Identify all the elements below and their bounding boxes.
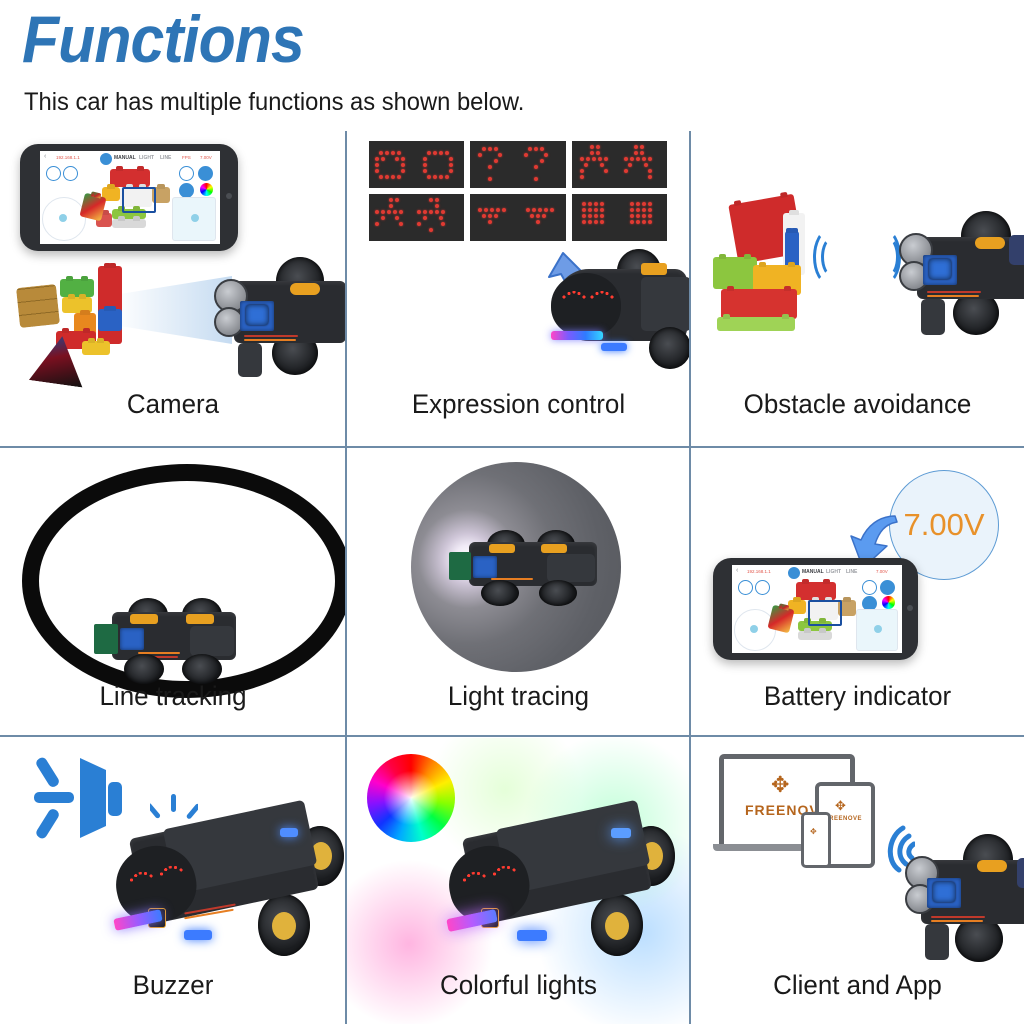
functions-grid: ‹ 192.168.1.1 MANUAL LIGHT LINE FPS 7.00… [0,131,1024,1024]
function-cell-client-and-app[interactable]: ✥ FREENOVE ✥ FREENOVE ✥ [691,738,1024,1024]
app-tab-line[interactable]: LINE [846,569,857,575]
function-cell-camera[interactable]: ‹ 192.168.1.1 MANUAL LIGHT LINE FPS 7.00… [0,131,346,447]
car-wire-orange [931,920,983,922]
led-matrix-question-marks [470,141,565,188]
color-wheel-icon [367,754,455,842]
page-title: Functions [22,6,304,72]
car-battery-holder [547,554,595,582]
app-tab-line[interactable]: LINE [160,155,171,161]
smartphone-mockup-battery: ‹ 192.168.1.1 MANUAL LIGHT LINE 7.00V [713,558,918,660]
car-wire-red [927,291,981,293]
cell-caption-camera: Camera [7,389,339,420]
joystick-left-knob[interactable] [750,625,758,633]
speaker-icon[interactable] [880,580,895,595]
robot-car [214,257,346,377]
camera-icon[interactable] [862,580,877,595]
led-face-panel [551,273,621,337]
robot-car-obstacle [899,211,1024,337]
car-motor-amber [641,263,667,275]
car-tire-front-left [481,580,519,606]
function-cell-buzzer[interactable]: Buzzer [0,738,346,1024]
car-tire-front-left [124,654,164,684]
screen-lego-grey [798,631,832,640]
app-status-left: 192.168.1.1 [56,155,80,160]
functions-page: Functions This car has multiple function… [0,0,1024,1024]
app-tab-manual[interactable]: MANUAL [802,569,824,575]
freenove-logo-mark: ✥ [771,772,789,798]
app-fps-label: FPS [182,155,191,160]
video-icon[interactable] [755,580,770,595]
cell-caption-expression-control: Expression control [354,389,683,420]
camera-lens [246,305,268,325]
led-matrix-wide-eyes [572,194,667,241]
led-matrix-angry-eyes [369,194,464,241]
cell-caption-battery-indicator: Battery indicator [698,681,1018,712]
rgb-led-strip [551,331,603,340]
rubiks-cube [16,284,60,328]
speaker-icon[interactable] [198,166,213,181]
grid-divider-vertical-1 [345,131,347,1024]
robot-car-colorful-lights [443,790,681,960]
camera-icon[interactable] [179,166,194,181]
page-subtitle: This car has multiple functions as shown… [24,88,524,117]
car-motor-amber [977,860,1007,872]
robot-car-expression [545,243,690,383]
car-motor-amber-left [130,614,158,624]
camera-target-selection-box [808,600,842,626]
app-voltage-readout: 7.00V [876,569,888,574]
line-tracking-module [94,624,118,654]
led-eye-left [561,291,587,300]
lego-red-tall [98,266,122,344]
target-icon[interactable] [738,580,753,595]
camera-lens [929,259,951,279]
target-icon[interactable] [46,166,61,181]
car-rear-plate [641,277,690,331]
video-icon[interactable] [63,166,78,181]
smartphone-device: ✥ [801,812,831,868]
chevron-left-icon[interactable]: ‹ [44,153,46,160]
led-matrix-eyes-open [369,141,464,188]
app-tab-manual[interactable]: MANUAL [114,155,136,161]
app-tab-light[interactable]: LIGHT [139,155,154,161]
car-motor-amber [975,237,1005,249]
screen-lego-grey [112,219,146,228]
rgb-wheel-icon[interactable] [882,596,895,609]
camera-lens [933,882,955,902]
robot-car-line-tracking [94,598,250,684]
joystick-left-knob[interactable] [59,214,67,222]
car-motor-amber-right [541,544,567,553]
phone-home-button[interactable] [226,193,232,199]
led-matrix-cross-eyes [572,141,667,188]
led-eye-right [589,291,615,300]
rgb-wheel-icon[interactable] [200,183,213,196]
led-matrix-squint-eyes [470,194,565,241]
led-matrix-panel-group [369,141,667,241]
screen-pyramid [767,605,794,634]
rgb-led-side [601,343,627,351]
freenove-logo-mark-tablet: ✥ [835,798,846,814]
cell-caption-colorful-lights: Colorful lights [354,970,683,1001]
lego-blue [98,309,122,331]
lego-green [60,279,94,297]
link-icon[interactable] [788,567,800,579]
joystick-right-knob[interactable] [874,625,882,633]
camera-target-selection-box [122,187,156,213]
grid-divider-horizontal-2 [0,735,1024,737]
lego-green [713,257,757,289]
joystick-right-knob[interactable] [191,214,199,222]
car-tire-front-right [182,654,222,684]
car-tire-front-right [649,327,690,369]
function-cell-battery-indicator[interactable]: 7.00V ‹ 192.168.1.1 MANUAL LIGHT LINE 7.… [691,448,1024,737]
car-wire-orange [244,339,296,341]
cell-caption-obstacle-avoidance: Obstacle avoidance [698,389,1018,420]
rgb-led-strip-rear [280,828,298,837]
function-cell-obstacle-avoidance[interactable]: Obstacle avoidance [691,131,1024,447]
function-cell-line-tracking[interactable]: Line tracking [0,448,346,737]
cell-caption-client-and-app: Client and App [698,970,1018,1001]
car-wire-orange [927,295,979,297]
rgb-led-strip-rear [611,828,631,838]
car-front-plate [238,343,262,377]
car-wheel-hub-front [272,912,296,940]
grid-divider-vertical-2 [689,131,691,1024]
grid-divider-horizontal-1 [0,446,1024,448]
camera-servo [473,556,497,578]
phone-screen: ‹ 192.168.1.1 MANUAL LIGHT LINE 7.00V [732,565,902,653]
app-voltage-label: 7.00V [200,155,212,160]
sonar-wave-icon-right-2 [869,229,901,285]
chevron-left-icon[interactable]: ‹ [736,567,738,574]
cell-caption-buzzer: Buzzer [7,970,339,1001]
smartphone-mockup: ‹ 192.168.1.1 MANUAL LIGHT LINE FPS 7.00… [20,144,238,251]
rgb-led-strip-side [184,930,212,940]
car-side-module [1017,858,1024,888]
function-cell-light-tracing[interactable]: Light tracing [347,448,690,737]
car-wire-red [244,335,298,337]
app-status-left: 192.168.1.1 [747,569,771,574]
robot-car-light-tracing [445,530,605,606]
car-battery-holder [190,626,234,656]
lego-yellow2 [82,341,110,355]
lego-green-base [717,317,795,331]
page-header: Functions This car has multiple function… [0,0,1024,130]
phone-home-button[interactable] [907,605,913,611]
function-cell-colorful-lights[interactable]: Colorful lights [347,738,690,1024]
smiley-icon[interactable] [179,183,194,198]
rgb-led-strip-side [517,930,547,941]
car-motor-amber-right [186,614,214,624]
car-wheel-hub-front [605,912,629,940]
car-blue-module [1009,235,1024,265]
car-front-plate [921,299,945,335]
cell-caption-light-tracing: Light tracing [354,681,683,712]
link-icon[interactable] [100,153,112,165]
camera-servo [120,628,144,650]
freenove-logo-mark-phone: ✥ [810,827,817,836]
car-wire-red [931,916,985,918]
car-motor-amber [290,283,320,295]
cell-caption-line-tracking: Line tracking [7,681,339,712]
sonar-wave-icon-left-2 [813,229,845,285]
car-motor-amber-left [489,544,515,553]
phone-screen: ‹ 192.168.1.1 MANUAL LIGHT LINE FPS 7.00… [40,151,220,244]
robot-car-client-app [905,834,1024,962]
voltage-value: 7.00V [903,507,984,543]
photoresistor-module [449,552,471,580]
robot-car-buzzer [108,790,344,960]
function-cell-expression-control[interactable]: Expression control [347,131,690,447]
car-front-plate [925,924,949,960]
car-tire-front-right [539,580,577,606]
app-tab-light[interactable]: LIGHT [826,569,841,575]
